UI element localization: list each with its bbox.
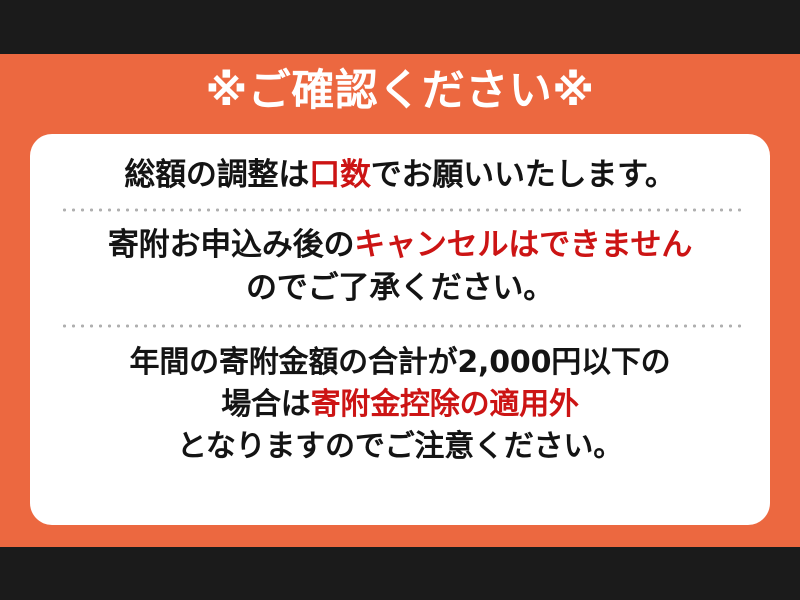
poster-body: ※ご確認ください※ 総額の調整は口数でお願いいたします。 寄附お申込み後のキャン…: [0, 54, 800, 547]
notice-text-segment: のでご了承ください。: [246, 270, 554, 306]
notice-block-no-cancel: 寄附お申込み後のキャンセルはできません のでご了承ください。: [60, 212, 740, 310]
notice-text-segment: となりますのでご注意ください。: [177, 429, 623, 464]
notice-highlight-no-cancel: キャンセルはできません: [354, 227, 692, 263]
notice-highlight-unit-count: 口数: [309, 157, 371, 193]
notice-block-unit-count: 総額の調整は口数でお願いいたします。: [60, 134, 740, 197]
notice-highlight-deduction: 寄附金控除の適用外: [311, 387, 579, 422]
notice-line-1: 寄附お申込み後のキャンセルはできません: [60, 224, 740, 267]
notice-text-segment: でお願いいたします。: [371, 157, 676, 193]
poster-screen: ※ご確認ください※ 総額の調整は口数でお願いいたします。 寄附お申込み後のキャン…: [0, 0, 800, 600]
page-title: ※ご確認ください※: [0, 62, 800, 120]
notice-text-segment: 寄附お申込み後の: [108, 227, 354, 263]
notice-line-1: 総額の調整は口数でお願いいたします。: [60, 153, 740, 197]
notice-line-3: となりますのでご注意ください。: [60, 426, 740, 468]
notice-line-1: 年間の寄附金額の合計が2,000円以下の: [60, 342, 740, 384]
letterbox-bar-bottom: [0, 547, 800, 600]
notice-text-segment: 場合は: [221, 387, 310, 422]
notice-block-deduction: 年間の寄附金額の合計が2,000円以下の 場合は寄附金控除の適用外 となりますの…: [60, 328, 740, 468]
notice-card-content: 総額の調整は口数でお願いいたします。 寄附お申込み後のキャンセルはできません の…: [30, 134, 770, 525]
letterbox-bar-top: [0, 0, 800, 54]
notice-card: 総額の調整は口数でお願いいたします。 寄附お申込み後のキャンセルはできません の…: [30, 134, 770, 525]
notice-line-2: 場合は寄附金控除の適用外: [60, 384, 740, 426]
notice-text-segment: 総額の調整は: [124, 157, 309, 193]
notice-text-segment: 年間の寄附金額の合計が2,000円以下の: [130, 345, 671, 380]
notice-line-2: のでご了承ください。: [60, 267, 740, 310]
